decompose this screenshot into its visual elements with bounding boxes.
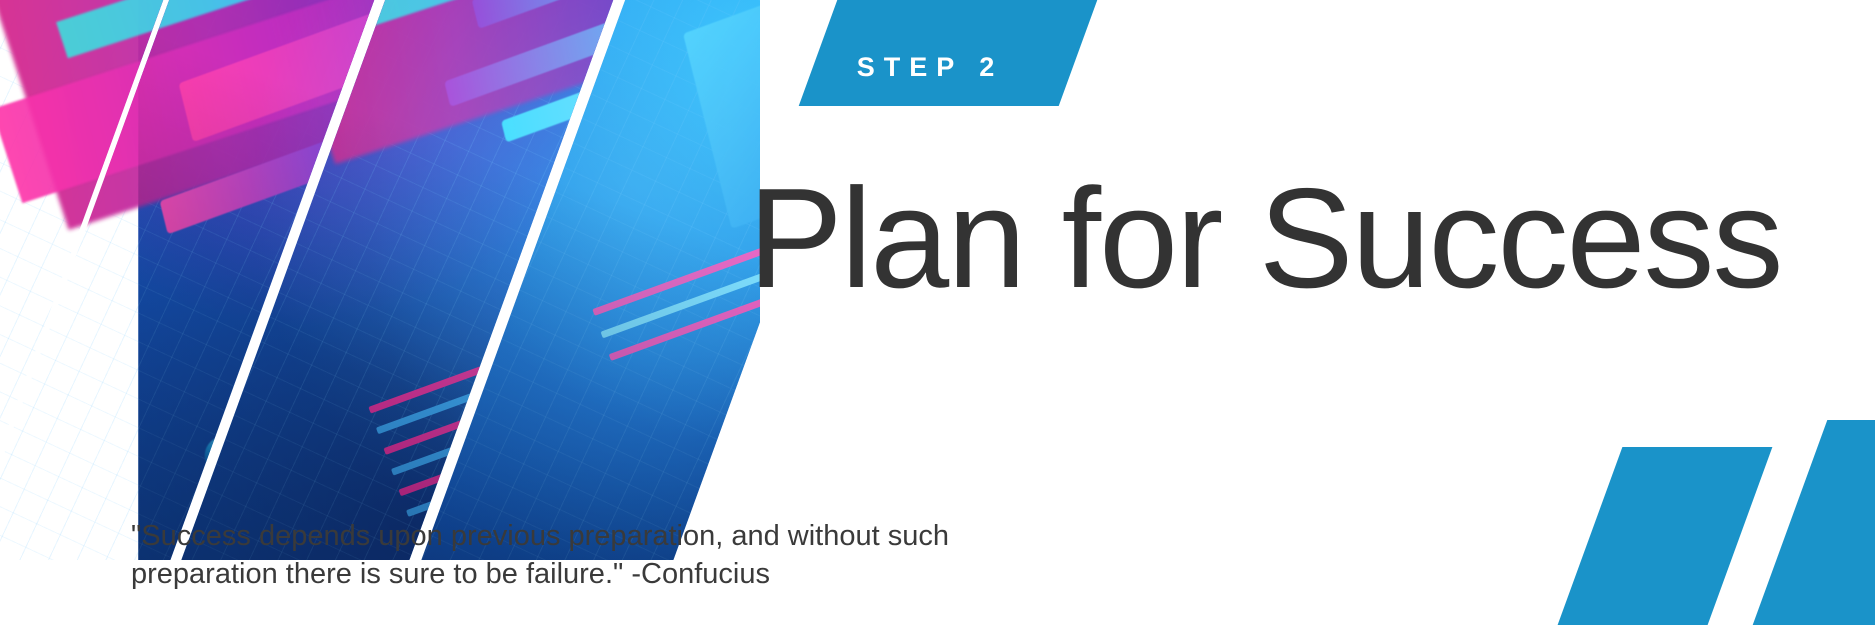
quote-line-1: "Success depends upon previous preparati… (131, 517, 949, 555)
photo-collage (0, 0, 760, 560)
step-badge: STEP 2 (799, 0, 1098, 106)
quote-line-2: preparation there is sure to be failure.… (131, 555, 949, 593)
decor-parallelogram-1 (1558, 447, 1773, 625)
step-badge-label: STEP 2 (857, 52, 1004, 83)
slide-canvas: STEP 2 Plan for Success "Success depends… (0, 0, 1875, 625)
quote-text: "Success depends upon previous preparati… (131, 517, 949, 594)
page-title: Plan for Success (748, 168, 1782, 310)
decor-parallelogram-2 (1753, 420, 1875, 625)
